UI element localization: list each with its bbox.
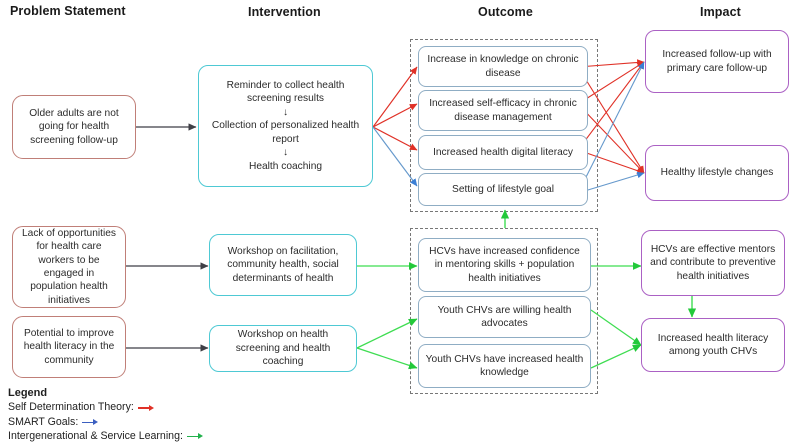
impact-box-increased-health-literacy[interactable]: Increased health literacy among youth CH…: [641, 318, 785, 372]
problem-statement-box-older-adults[interactable]: Older adults are not going for health sc…: [12, 95, 136, 159]
arrow-intervention-to-outcome-green-group: [357, 266, 417, 368]
problem-statement-text: Lack of opportunities for health care wo…: [19, 227, 119, 308]
problem-statement-text: Older adults are not going for health sc…: [19, 107, 129, 147]
legend-item-self-determination-theory: Self Determination Theory:: [8, 401, 203, 415]
outcome-box-lifestyle-goal[interactable]: Setting of lifestyle goal: [418, 173, 588, 206]
impact-box-increased-follow-up[interactable]: Increased follow-up with primary care fo…: [645, 30, 789, 93]
impact-text: Healthy lifestyle changes: [661, 166, 774, 179]
column-header-outcome: Outcome: [478, 5, 533, 19]
red-arrow-icon: [138, 404, 154, 413]
column-header-impact: Impact: [700, 5, 741, 19]
green-arrow-icon: [187, 432, 203, 441]
logic-model-diagram: Problem Statement Intervention Outcome I…: [0, 0, 800, 443]
outcome-box-knowledge-chronic-disease[interactable]: Increase in knowledge on chronic disease: [418, 46, 588, 87]
intervention-line-2: Collection of personalized health report: [205, 119, 366, 146]
blue-arrow-icon: [82, 418, 98, 427]
down-arrow-icon: ↓: [283, 106, 288, 119]
intervention-line-1: Reminder to collect health screening res…: [205, 79, 366, 106]
outcome-text: Increased self-efficacy in chronic disea…: [425, 97, 581, 124]
intervention-box-health-screening-pathway[interactable]: Reminder to collect health screening res…: [198, 65, 373, 187]
arrow-outcome-to-impact-green-group: [591, 266, 641, 368]
arrow-problem-to-intervention-group: [126, 127, 208, 348]
arrow-i3-to-o6: [357, 319, 417, 348]
legend-label: Intergenerational & Service Learning:: [8, 430, 183, 443]
impact-text: HCVs are effective mentors and contribut…: [648, 243, 778, 283]
column-header-problem-statement: Problem Statement: [10, 4, 126, 18]
impact-box-hcv-effective-mentors[interactable]: HCVs are effective mentors and contribut…: [641, 230, 785, 296]
outcome-text: Setting of lifestyle goal: [452, 183, 554, 196]
intervention-text: Workshop on health screening and health …: [216, 328, 350, 368]
intervention-box-workshop-facilitation[interactable]: Workshop on facilitation, community heal…: [209, 234, 357, 296]
legend-label: Self Determination Theory:: [8, 401, 134, 415]
legend-label: SMART Goals:: [8, 416, 78, 430]
outcome-box-youth-chv-knowledge[interactable]: Youth CHVs have increased health knowled…: [418, 344, 591, 388]
outcome-text: Increase in knowledge on chronic disease: [425, 53, 581, 80]
problem-statement-box-health-literacy[interactable]: Potential to improve health literacy in …: [12, 316, 126, 378]
arrow-o6-to-m4: [591, 310, 641, 345]
outcome-text: Youth CHVs have increased health knowled…: [425, 353, 584, 380]
column-header-intervention: Intervention: [248, 5, 321, 19]
legend-item-smart-goals: SMART Goals:: [8, 416, 203, 430]
problem-statement-text: Potential to improve health literacy in …: [19, 327, 119, 367]
impact-text: Increased health literacy among youth CH…: [648, 332, 778, 359]
outcome-box-hcv-confidence[interactable]: HCVs have increased confidence in mentor…: [418, 238, 591, 292]
outcome-text: Increased health digital literacy: [433, 146, 573, 159]
legend-item-intergenerational-service-learning: Intergenerational & Service Learning:: [8, 430, 203, 443]
outcome-box-digital-literacy[interactable]: Increased health digital literacy: [418, 135, 588, 170]
intervention-line-3: Health coaching: [249, 160, 322, 173]
outcome-box-self-efficacy[interactable]: Increased self-efficacy in chronic disea…: [418, 90, 588, 131]
legend: Legend Self Determination Theory: SMART …: [8, 386, 203, 443]
outcome-box-youth-chv-advocates[interactable]: Youth CHVs are willing health advocates: [418, 296, 591, 338]
arrow-i3-to-o7: [357, 348, 417, 368]
outcome-text: HCVs have increased confidence in mentor…: [425, 245, 584, 285]
outcome-text: Youth CHVs are willing health advocates: [425, 304, 584, 331]
intervention-box-workshop-health-screening[interactable]: Workshop on health screening and health …: [209, 325, 357, 372]
intervention-text: Workshop on facilitation, community heal…: [216, 245, 350, 285]
legend-title: Legend: [8, 386, 203, 400]
impact-text: Increased follow-up with primary care fo…: [652, 48, 782, 75]
problem-statement-box-health-care-workers[interactable]: Lack of opportunities for health care wo…: [12, 226, 126, 308]
down-arrow-icon: ↓: [283, 146, 288, 159]
impact-box-healthy-lifestyle-changes[interactable]: Healthy lifestyle changes: [645, 145, 789, 201]
arrow-o7-to-m4: [591, 345, 641, 368]
